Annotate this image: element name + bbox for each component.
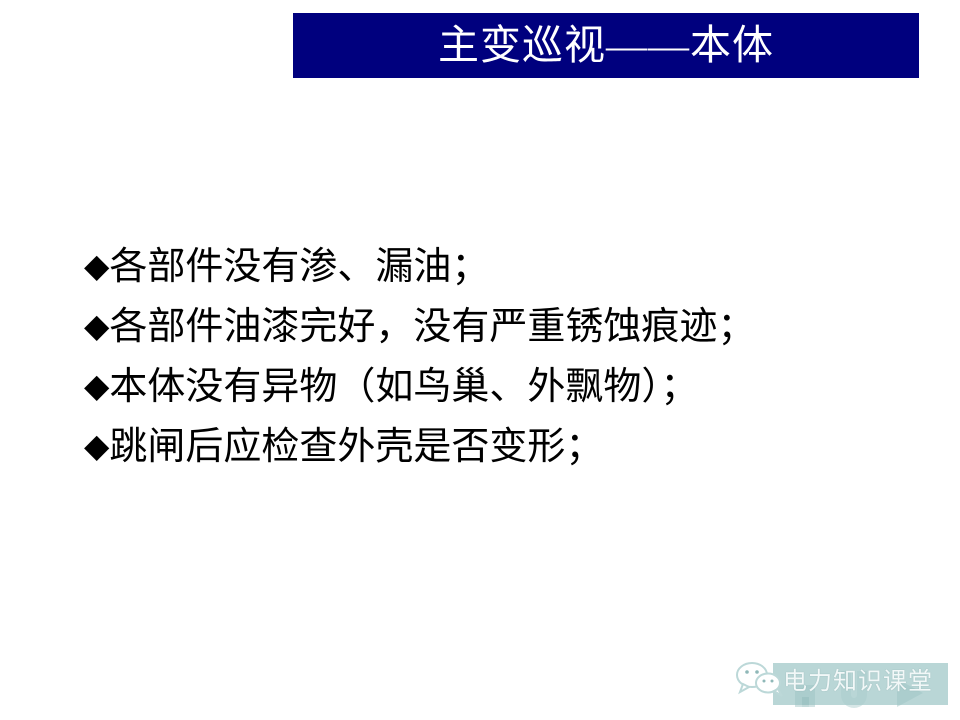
bullet-item: ◆ 各部件油漆完好，没有严重锈蚀痕迹； xyxy=(84,308,904,368)
slide-body-bullet-list: ◆ 各部件没有渗、漏油； ◆ 各部件油漆完好，没有严重锈蚀痕迹； ◆ 本体没有异… xyxy=(84,248,904,488)
presentation-slide: 主变巡视——本体 ◆ 各部件没有渗、漏油； ◆ 各部件油漆完好，没有严重锈蚀痕迹… xyxy=(0,0,960,720)
wechat-icon xyxy=(735,659,787,699)
diamond-bullet-icon: ◆ xyxy=(84,429,109,462)
watermark-text: 电力知识课堂 xyxy=(783,665,953,699)
bullet-item: ◆ 本体没有异物（如鸟巢、外飘物）； xyxy=(84,368,904,428)
bullet-item-text: 跳闸后应检查外壳是否变形； xyxy=(109,428,603,466)
diamond-bullet-icon: ◆ xyxy=(84,309,109,342)
slide-title-bar: 主变巡视——本体 xyxy=(293,13,919,78)
bullet-item: ◆ 跳闸后应检查外壳是否变形； xyxy=(84,428,904,488)
bullet-item: ◆ 各部件没有渗、漏油； xyxy=(84,248,904,308)
watermark: 电力知识课堂 xyxy=(735,655,950,713)
slide-title: 主变巡视——本体 xyxy=(438,25,774,66)
bullet-item-text: 各部件油漆完好，没有严重锈蚀痕迹； xyxy=(109,308,755,346)
diamond-bullet-icon: ◆ xyxy=(84,249,109,282)
bullet-item-text: 本体没有异物（如鸟巢、外飘物）； xyxy=(109,368,698,406)
bullet-item-text: 各部件没有渗、漏油； xyxy=(109,248,489,286)
diamond-bullet-icon: ◆ xyxy=(84,369,109,402)
